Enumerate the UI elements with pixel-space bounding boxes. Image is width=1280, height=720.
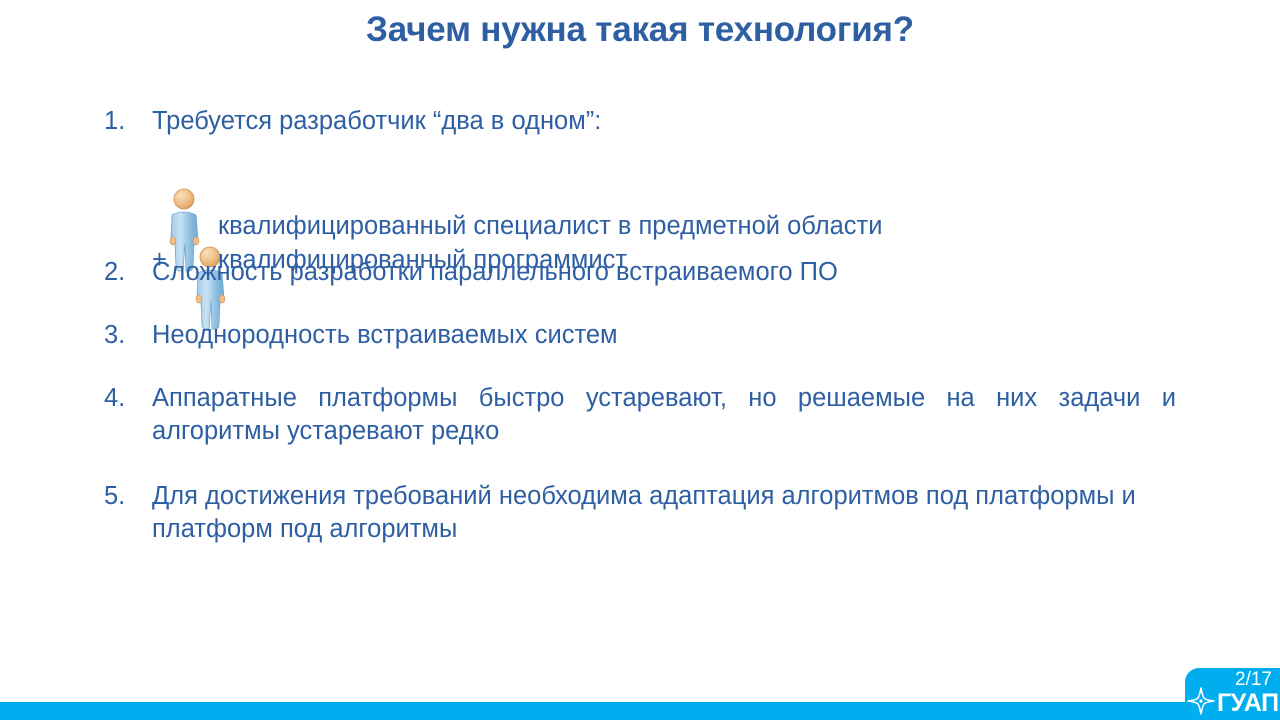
list-item-text: Аппаратные платформы быстро устаревают, … <box>152 382 1176 448</box>
list-item-marker: 5. <box>104 480 152 513</box>
list-item-text: Неоднородность встраиваемых систем <box>152 319 1176 352</box>
list-item-marker: 2. <box>104 256 152 289</box>
page-title: Зачем нужна такая технология? <box>0 8 1280 52</box>
qualification-line-specialist: квалифицированный специалист в предметно… <box>218 210 882 243</box>
guap-wordmark: ГУАП <box>1217 690 1279 717</box>
footer-bar <box>0 702 1280 720</box>
footer-logo-tab: 2/17 ГУАП <box>1185 668 1280 720</box>
qualification-subblock: квалифицированный специалист в предметно… <box>104 148 1176 248</box>
guap-star-icon <box>1187 687 1215 720</box>
guap-logo: ГУАП <box>1187 687 1279 720</box>
list-item: 2. Сложность разработки параллельного вс… <box>104 256 1176 289</box>
list-item: 1. Требуется разработчик “два в одном”: <box>104 105 1176 138</box>
list-item-text: Для достижения требований необходима ада… <box>152 480 1176 546</box>
list-item: 4. Аппаратные платформы быстро устареваю… <box>104 382 1176 448</box>
list-item-marker: 1. <box>104 105 152 138</box>
list-item: 5. Для достижения требований необходима … <box>104 480 1176 546</box>
list-item: 3. Неоднородность встраиваемых систем <box>104 319 1176 352</box>
list-item-text: Сложность разработки параллельного встра… <box>152 256 1176 289</box>
list-item-marker: 4. <box>104 382 152 415</box>
content-list: 1. Требуется разработчик “два в одном”: <box>104 105 1176 546</box>
slide-canvas: Зачем нужна такая технология? 1. Требует… <box>0 0 1280 720</box>
list-item-marker: 3. <box>104 319 152 352</box>
list-item-text: Требуется разработчик “два в одном”: <box>152 105 1176 138</box>
